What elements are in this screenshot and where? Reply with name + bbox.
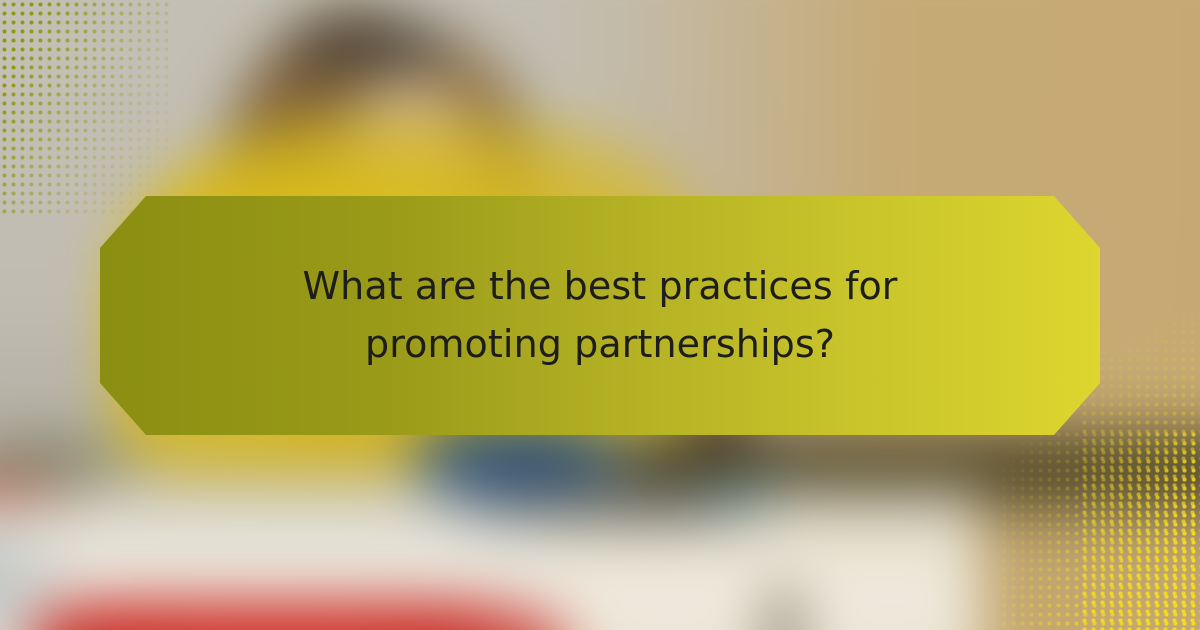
photo-table-leg-layer — [763, 586, 804, 630]
title-banner: What are the best practices for promotin… — [100, 196, 1100, 435]
photo-red-object-layer — [30, 601, 573, 630]
photo-person-sunglasses-layer — [288, 21, 451, 81]
halftone-dots-bottom-right-icon — [1000, 430, 1200, 630]
page-title: What are the best practices for promotin… — [220, 258, 980, 374]
social-card: What are the best practices for promotin… — [0, 0, 1200, 630]
halftone-dots-top-left-icon — [0, 0, 170, 215]
photo-teal-object-layer — [695, 473, 790, 511]
